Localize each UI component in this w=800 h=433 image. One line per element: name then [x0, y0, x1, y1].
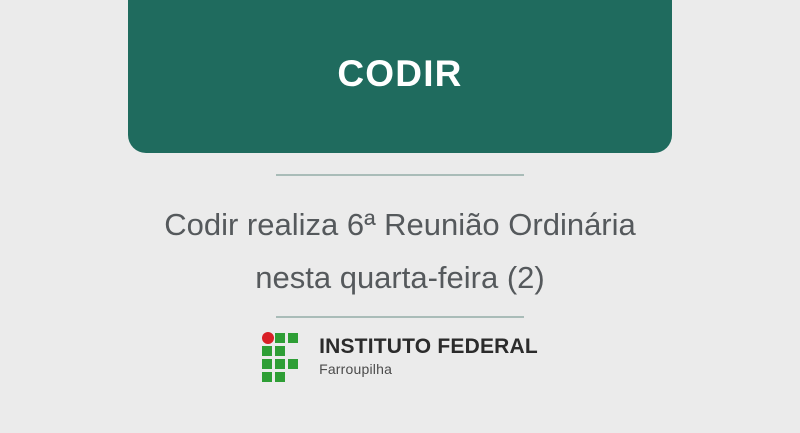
logo-square-icon [275, 346, 285, 356]
logo-red-dot-icon [262, 332, 274, 344]
headline-line-1: Codir realiza 6ª Reunião Ordinária [0, 198, 800, 251]
headline-line-2: nesta quarta-feira (2) [0, 251, 800, 304]
logo-square-icon [262, 372, 272, 382]
instituto-federal-logo-mark [262, 332, 308, 380]
logo-primary-text: INSTITUTO FEDERAL [319, 336, 538, 357]
logo-secondary-text: Farroupilha [319, 362, 538, 376]
divider-below-headline [276, 316, 524, 318]
institutional-logo: INSTITUTO FEDERAL Farroupilha [0, 332, 800, 380]
banner-header: CODIR [128, 0, 672, 153]
logo-square-icon [262, 359, 272, 369]
announcement-card: CODIR Codir realiza 6ª Reunião Ordinária… [0, 0, 800, 433]
logo-square-icon [288, 333, 298, 343]
logo-square-icon [288, 359, 298, 369]
banner-title: CODIR [337, 55, 462, 92]
logo-square-icon [275, 372, 285, 382]
headline: Codir realiza 6ª Reunião Ordinária nesta… [0, 198, 800, 304]
logo-square-icon [275, 359, 285, 369]
logo-square-icon [275, 333, 285, 343]
logo-square-icon [262, 346, 272, 356]
divider-above-headline [276, 174, 524, 176]
logo-wordmark: INSTITUTO FEDERAL Farroupilha [319, 336, 538, 376]
